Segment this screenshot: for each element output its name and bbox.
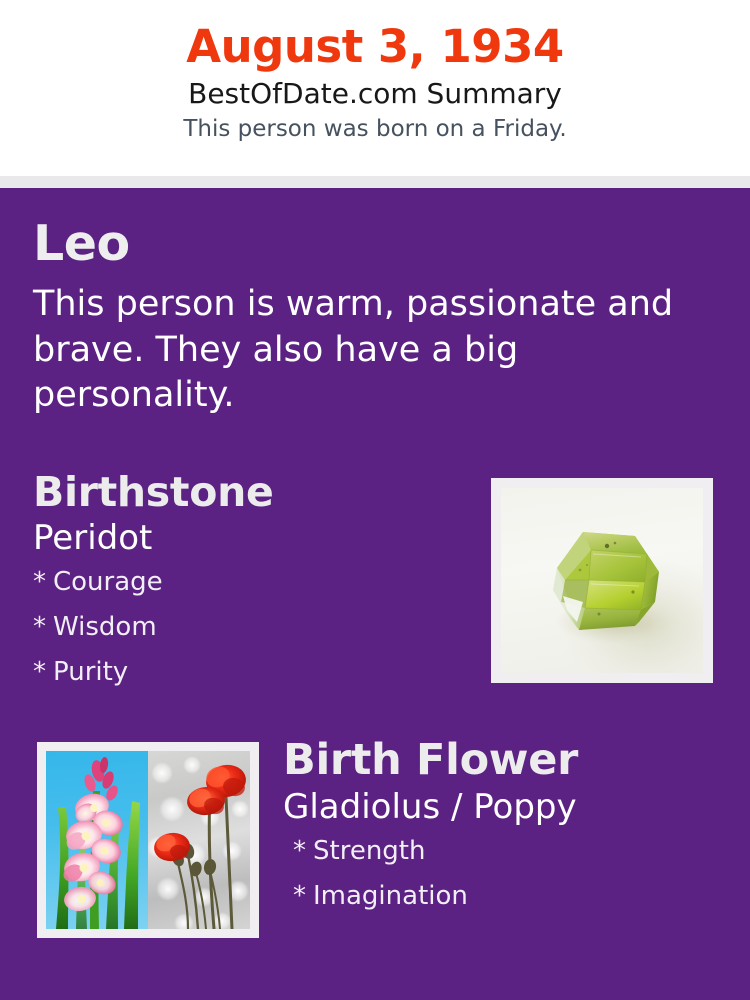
zodiac-sign-heading: Leo: [33, 219, 693, 268]
birthstone-heading: Birthstone: [33, 472, 463, 513]
birth-flower-trait-list: *Strength *Imagination: [283, 824, 733, 928]
zodiac-description: This person is warm, passionate and brav…: [33, 268, 683, 419]
birth-flower-name: Gladiolus / Poppy: [283, 782, 733, 824]
birthstone-trait-label: Purity: [53, 657, 128, 687]
list-item: *Strength: [293, 838, 733, 883]
birthstone-name: Peridot: [33, 513, 463, 555]
list-item: *Courage: [33, 569, 463, 614]
list-item: *Imagination: [293, 883, 733, 928]
poppy-photo-half: [148, 751, 250, 929]
gladiolus-icon: [46, 751, 148, 929]
birthstone-trait-list: *Courage *Wisdom *Purity: [33, 555, 463, 704]
asterisk-bullet-icon: *: [293, 881, 313, 911]
peridot-gemstone-photo: [501, 488, 703, 673]
asterisk-bullet-icon: *: [33, 567, 53, 597]
weekday-note: This person was born on a Friday.: [0, 110, 750, 143]
list-item: *Purity: [33, 659, 463, 704]
page-title: August 3, 1934: [0, 0, 750, 70]
gladiolus-photo-half: [46, 751, 148, 929]
birth-flower-heading: Birth Flower: [283, 739, 733, 782]
asterisk-bullet-icon: *: [293, 836, 313, 866]
birth-flower-trait-label: Strength: [313, 836, 425, 866]
birth-flower-image-frame: [37, 742, 259, 938]
birth-flower-section: Birth Flower Gladiolus / Poppy *Strength…: [283, 739, 733, 928]
birthstone-trait-label: Wisdom: [53, 612, 157, 642]
asterisk-bullet-icon: *: [33, 657, 53, 687]
birth-flower-trait-label: Imagination: [313, 881, 468, 911]
birthstone-trait-label: Courage: [53, 567, 163, 597]
zodiac-section: Leo This person is warm, passionate and …: [33, 219, 693, 419]
birthstone-image-frame: [491, 478, 713, 683]
summary-card: August 3, 1934 BestOfDate.com Summary Th…: [0, 0, 750, 1000]
site-summary-label: BestOfDate.com Summary: [0, 70, 750, 109]
list-item: *Wisdom: [33, 614, 463, 659]
card-header: August 3, 1934 BestOfDate.com Summary Th…: [0, 0, 750, 176]
peridot-gemstone-icon: [521, 510, 671, 650]
birthstone-section: Birthstone Peridot *Courage *Wisdom *Pur…: [33, 472, 463, 704]
poppy-icon: [148, 751, 250, 929]
header-divider: [0, 176, 750, 188]
asterisk-bullet-icon: *: [33, 612, 53, 642]
birth-flower-photo: [46, 751, 250, 929]
